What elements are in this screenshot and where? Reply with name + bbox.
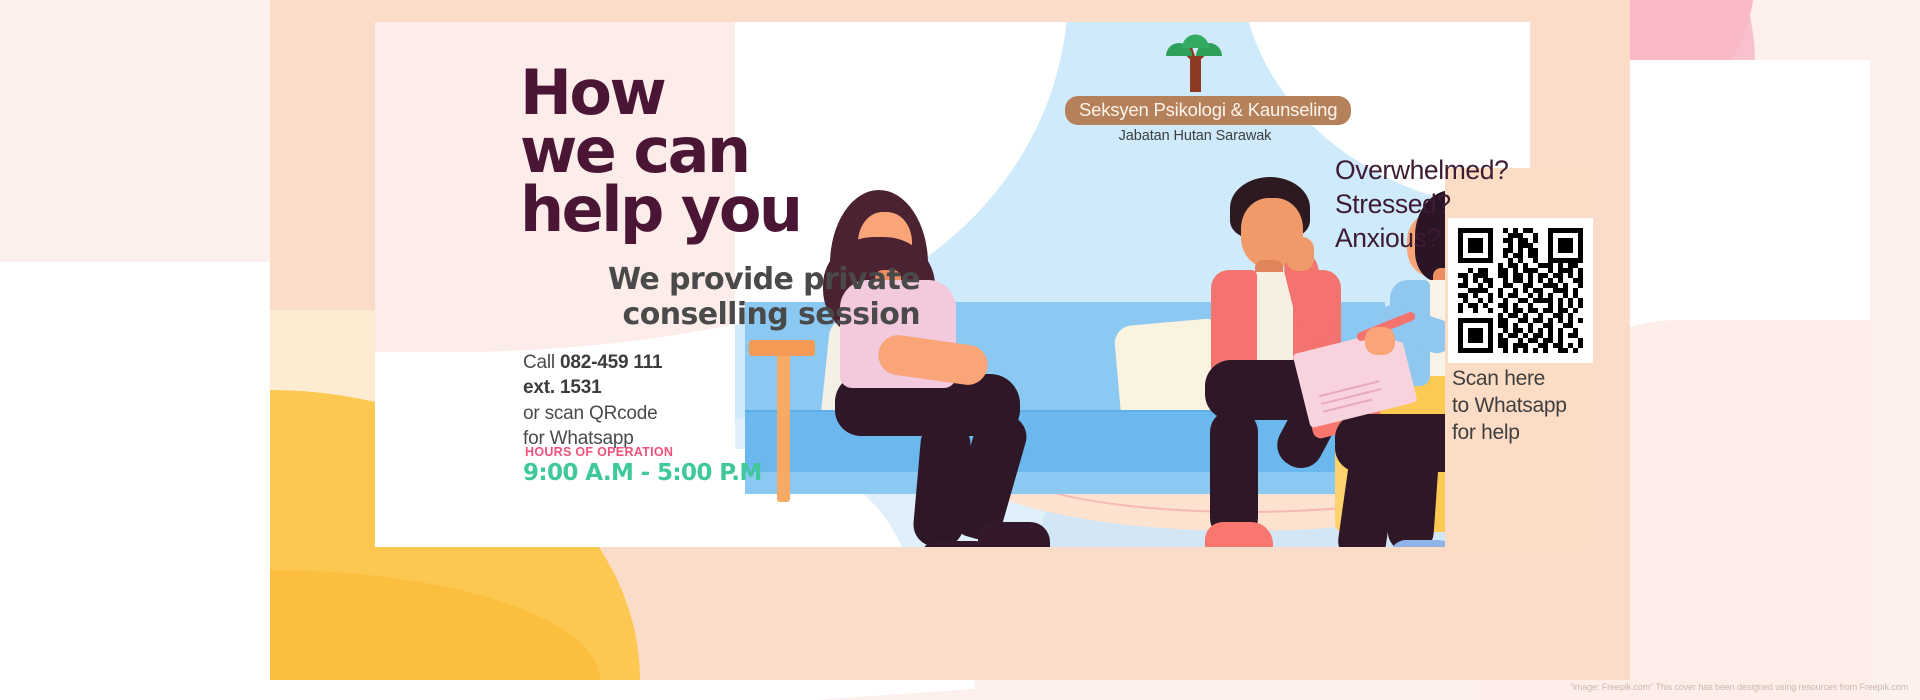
contact-block: Call 082-459 111 ext. 1531 or scan QRcod… — [523, 350, 863, 451]
background-right-strip — [1870, 0, 1920, 700]
contact-ext-line: ext. 1531 — [523, 375, 863, 400]
contact-phone-line: Call 082-459 111 — [523, 350, 863, 375]
clipboard-line — [1321, 388, 1382, 405]
organisation-logo: Seksyen Psikologi & Kaunseling Jabatan H… — [1065, 30, 1325, 144]
question-line-3: Anxious? — [1335, 222, 1530, 256]
image-credit: "image: Freepik.com" This cover has been… — [1570, 682, 1908, 692]
logo-subtitle: Jabatan Hutan Sarawak — [1065, 128, 1325, 144]
headline-line-2: we can — [520, 122, 940, 180]
content-panel: Overwhelmed? Stressed? Anxious? How we c… — [375, 22, 1530, 547]
qr-caption-line-2: to Whatsapp — [1452, 393, 1602, 420]
poster-banner: Overwhelmed? Stressed? Anxious? How we c… — [0, 0, 1920, 700]
counsellor-shin — [1386, 446, 1439, 547]
client-man-hand — [1286, 237, 1314, 271]
subheadline-line-1: We provide private — [520, 262, 920, 297]
phone-number: 082-459 111 — [560, 352, 662, 373]
clipboard-line — [1319, 380, 1380, 397]
banner-card: Overwhelmed? Stressed? Anxious? How we c… — [270, 0, 1630, 680]
page-title: How we can help you — [520, 64, 940, 239]
qr-caption-line-3: for help — [1452, 420, 1602, 447]
question-list: Overwhelmed? Stressed? Anxious? — [1335, 154, 1530, 256]
subheadline: We provide private conselling session — [520, 262, 920, 333]
question-line-2: Stressed? — [1335, 188, 1530, 222]
subheadline-line-2: conselling session — [520, 297, 920, 332]
tree-icon — [1160, 30, 1230, 94]
qr-caption: Scan here to Whatsapp for help — [1452, 366, 1602, 447]
question-line-1: Overwhelmed? — [1335, 154, 1530, 188]
client-woman-shoe — [978, 522, 1050, 547]
logo-department-name: Seksyen Psikologi & Kaunseling — [1065, 96, 1351, 125]
hours-value: 9:00 A.M - 5:00 P.M — [523, 460, 762, 486]
qr-caption-line-1: Scan here — [1452, 366, 1602, 393]
contact-line-3: or scan QRcode — [523, 401, 863, 426]
counsellor-hand — [1365, 327, 1395, 355]
phone-extension: ext. 1531 — [523, 377, 602, 398]
call-label: Call — [523, 352, 560, 373]
sofa-base — [745, 472, 1385, 494]
client-man-shin — [1210, 410, 1258, 540]
headline-line-3: help you — [520, 181, 940, 239]
client-man-shoe — [1205, 522, 1273, 547]
hours-label: HOURS OF OPERATION — [525, 445, 673, 459]
